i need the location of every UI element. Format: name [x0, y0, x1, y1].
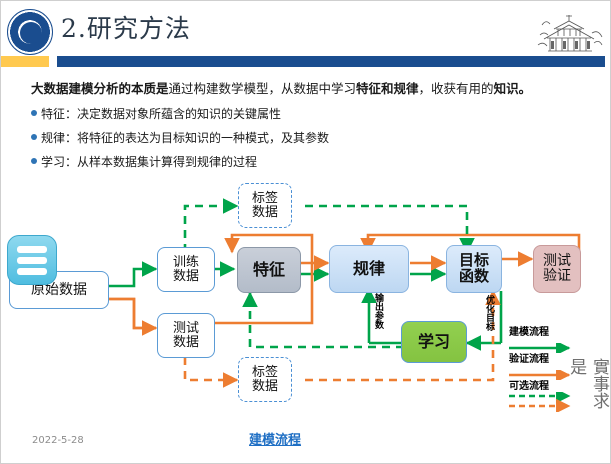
- bullet-text: 规律：将特征的表达为目标知识的一种模式，及其参数: [41, 131, 329, 145]
- legend-label: 验证流程: [509, 350, 581, 365]
- node-rule[interactable]: 规律: [329, 245, 409, 293]
- bullet-item-rule: 规律：将特征的表达为目标知识的一种模式，及其参数: [31, 129, 591, 146]
- accent-bar-yellow: [1, 56, 49, 67]
- slide-canvas: 2.研究方法: [0, 0, 611, 464]
- legend-label: 建模流程: [509, 323, 581, 338]
- legend-label: 可选流程: [509, 377, 581, 392]
- node-label-data-bottom[interactable]: 标签 数据: [238, 357, 292, 402]
- database-icon: [7, 235, 57, 285]
- bullet-text: 学习：从样本数据集计算得到规律的过程: [41, 155, 257, 169]
- building-svg: [534, 5, 604, 55]
- node-learning[interactable]: 学习: [401, 321, 467, 363]
- legend-item-optional: 可选流程: [509, 377, 581, 416]
- accent-bar-blue: [57, 56, 605, 67]
- diagram-caption: 建模流程: [249, 429, 301, 448]
- lead-bold-2: 特征和规律: [356, 81, 419, 96]
- bullet-item-feature: 特征：决定数据对象所蕴含的知识的关键属性: [31, 105, 591, 122]
- lead-paragraph: 大数据建模分析的本质是通过构建数学模型，从数据中学习特征和规律，收获有用的知识。: [31, 81, 591, 97]
- lead-normal-1: 通过构建数学模型，从数据中学习: [169, 81, 357, 96]
- campus-building-sketch-icon: [534, 5, 604, 55]
- node-train-data[interactable]: 训练 数据: [157, 247, 215, 292]
- node-objective-function[interactable]: 目标 函数: [446, 245, 502, 293]
- node-test-data[interactable]: 测试 数据: [157, 313, 215, 358]
- slide-header: 2.研究方法: [1, 1, 611, 65]
- db-bar-2: [17, 257, 47, 264]
- bullet-dot-icon: [31, 110, 37, 116]
- edge-label-output-params: 输出参数: [373, 293, 382, 329]
- edge-label-optimize-goal: 优化目标: [484, 295, 493, 331]
- bullet-dot-icon: [31, 158, 37, 164]
- node-test-verify[interactable]: 测试 验证: [533, 245, 581, 293]
- page-title: 2.研究方法: [61, 9, 191, 45]
- modeling-flow-diagram: 原始数据 训练 数据 测试 数据 标签 数据 标签 数据 特征 规律 目标 函数…: [1, 173, 611, 423]
- legend-arrow-optional-icon: [509, 392, 581, 412]
- node-label-data-top[interactable]: 标签 数据: [238, 183, 292, 228]
- lead-bold-1: 大数据建模分析的本质是: [31, 81, 169, 96]
- node-feature[interactable]: 特征: [237, 247, 301, 293]
- db-bar-1: [17, 246, 47, 253]
- bullet-text: 特征：决定数据对象所蕴含的知识的关键属性: [41, 107, 281, 121]
- db-bar-3: [17, 268, 47, 275]
- lead-bold-3: 知识。: [494, 81, 532, 96]
- legend: 建模流程 验证流程 可选流程: [509, 323, 609, 401]
- university-seal-icon: [7, 9, 53, 55]
- slide-date: 2022-5-28: [32, 435, 84, 446]
- bullet-item-learning: 学习：从样本数据集计算得到规律的过程: [31, 153, 591, 170]
- bullet-dot-icon: [31, 134, 37, 140]
- lead-normal-2: ，收获有用的: [419, 81, 494, 96]
